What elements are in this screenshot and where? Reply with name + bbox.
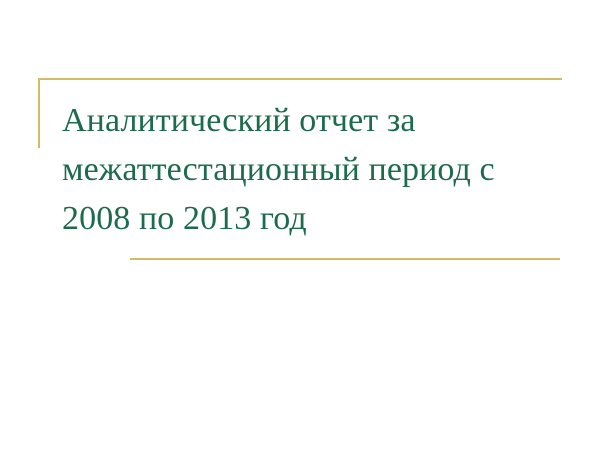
gold-horizontal-rule-decoration	[130, 258, 560, 260]
slide-title-line-1: Аналитический отчет за	[62, 96, 572, 145]
slide-title-line-2: межаттестационный период с	[62, 145, 572, 194]
slide-canvas: Аналитический отчет за межаттестационный…	[0, 0, 600, 450]
slide-title-line-3: 2008 по 2013 год	[62, 194, 572, 243]
slide-title: Аналитический отчет за межаттестационный…	[62, 96, 572, 243]
